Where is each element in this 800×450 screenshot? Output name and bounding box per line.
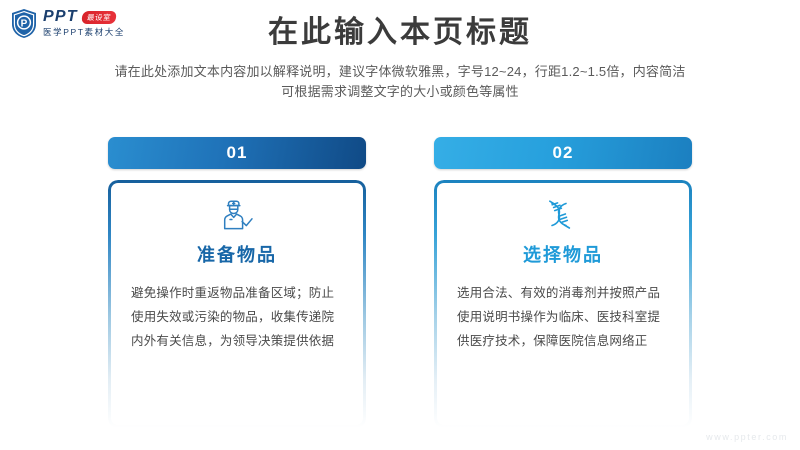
card-title-01: 准备物品 xyxy=(197,243,277,267)
content-card-02[interactable]: 选择物品 选用合法、有效的消毒剂并按照产品使用说明书操作为临床、医技科室提供医疗… xyxy=(434,180,692,428)
card-body-02: 选用合法、有效的消毒剂并按照产品使用说明书操作为临床、医技科室提供医疗技术，保障… xyxy=(457,281,669,353)
content-column-01: 01 xyxy=(108,137,366,428)
subtitle-line-2: 可根据需求调整文字的大小或颜色等属性 xyxy=(0,82,800,102)
content-card-01[interactable]: 准备物品 避免操作时重返物品准备区域；防止使用失效或污染的物品，收集传递院内外有… xyxy=(108,180,366,428)
card-title-02: 选择物品 xyxy=(523,243,603,267)
content-column-02: 02 xyxy=(434,137,692,428)
content-columns: 01 xyxy=(0,137,800,428)
page-subtitle: 请在此处添加文本内容加以解释说明，建议字体微软雅黑，字号12~24，行距1.2~… xyxy=(0,62,800,102)
card-body-01: 避免操作时重返物品准备区域；防止使用失效或污染的物品，收集传递院内外有关信息，为… xyxy=(131,281,343,353)
column-number-badge-02[interactable]: 02 xyxy=(434,137,692,169)
column-number-label: 02 xyxy=(553,143,574,163)
medical-staff-check-icon xyxy=(219,195,255,235)
page-title: 在此输入本页标题 xyxy=(0,14,800,52)
dna-helix-icon xyxy=(544,195,582,235)
subtitle-line-1: 请在此处添加文本内容加以解释说明，建议字体微软雅黑，字号12~24，行距1.2~… xyxy=(0,62,800,82)
column-number-badge-01[interactable]: 01 xyxy=(108,137,366,169)
footer-watermark: www.ppter.com xyxy=(706,432,788,442)
column-number-label: 01 xyxy=(227,143,248,163)
